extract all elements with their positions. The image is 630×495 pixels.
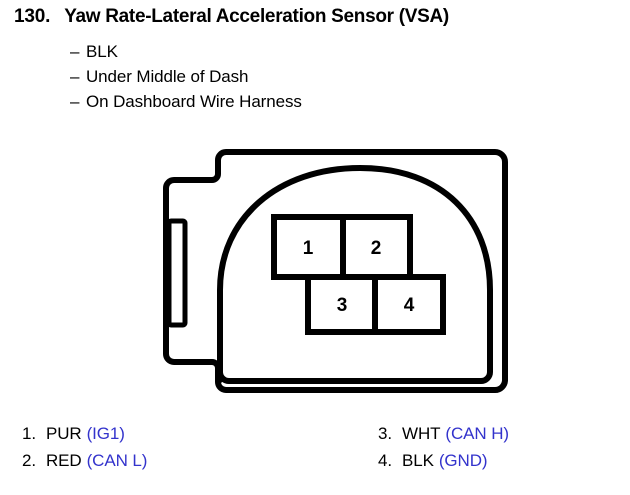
pin-legend-wire-color: RED — [46, 451, 82, 470]
pin-legend-index: 3. — [378, 420, 402, 447]
connector-tab-slot — [169, 221, 185, 325]
terminal-label-3: 3 — [337, 295, 348, 316]
pin-legend-right-column: 3.WHT(CAN H) 4.BLK(GND) — [378, 420, 509, 474]
pin-legend-wire-color: BLK — [402, 451, 434, 470]
pin-legend-index: 4. — [378, 447, 402, 474]
terminal-label-4: 4 — [404, 295, 415, 316]
connector-svg: 1 2 3 4 — [150, 140, 520, 402]
dash-icon: – — [70, 39, 86, 64]
pin-legend-wire-color: WHT — [402, 424, 440, 443]
bullet-list: –BLK –Under Middle of Dash –On Dashboard… — [70, 39, 302, 114]
title-number: 130. — [14, 6, 50, 28]
pin-legend-item: 2.RED(CAN L) — [22, 447, 147, 474]
pin-legend-index: 1. — [22, 420, 46, 447]
pin-legend-item: 1.PUR(IG1) — [22, 420, 147, 447]
bullet-item-label: BLK — [86, 42, 118, 61]
terminal-grid: 1 2 3 4 — [274, 217, 443, 332]
pin-legend-signal-name: (IG1) — [87, 424, 125, 443]
page-title: 130.Yaw Rate-Lateral Acceleration Sensor… — [14, 6, 449, 28]
pin-legend-index: 2. — [22, 447, 46, 474]
pin-legend-wire-color: PUR — [46, 424, 82, 443]
bullet-item-label: On Dashboard Wire Harness — [86, 92, 302, 111]
dash-icon: – — [70, 89, 86, 114]
pin-legend: 1.PUR(IG1) 2.RED(CAN L) 3.WHT(CAN H) 4.B… — [0, 420, 630, 480]
pin-legend-signal-name: (CAN L) — [87, 451, 148, 470]
title-text: Yaw Rate-Lateral Acceleration Sensor (VS… — [64, 6, 449, 28]
pin-legend-item: 3.WHT(CAN H) — [378, 420, 509, 447]
pin-legend-signal-name: (CAN H) — [445, 424, 509, 443]
connector-diagram: 1 2 3 4 — [150, 140, 520, 402]
pin-legend-left-column: 1.PUR(IG1) 2.RED(CAN L) — [22, 420, 147, 474]
dash-icon: – — [70, 64, 86, 89]
bullet-item: –Under Middle of Dash — [70, 64, 302, 89]
bullet-item-label: Under Middle of Dash — [86, 67, 248, 86]
terminal-label-1: 1 — [303, 238, 314, 259]
pin-legend-signal-name: (GND) — [439, 451, 488, 470]
pin-legend-item: 4.BLK(GND) — [378, 447, 509, 474]
bullet-item: –On Dashboard Wire Harness — [70, 89, 302, 114]
terminal-label-2: 2 — [371, 238, 382, 259]
bullet-item: –BLK — [70, 39, 302, 64]
